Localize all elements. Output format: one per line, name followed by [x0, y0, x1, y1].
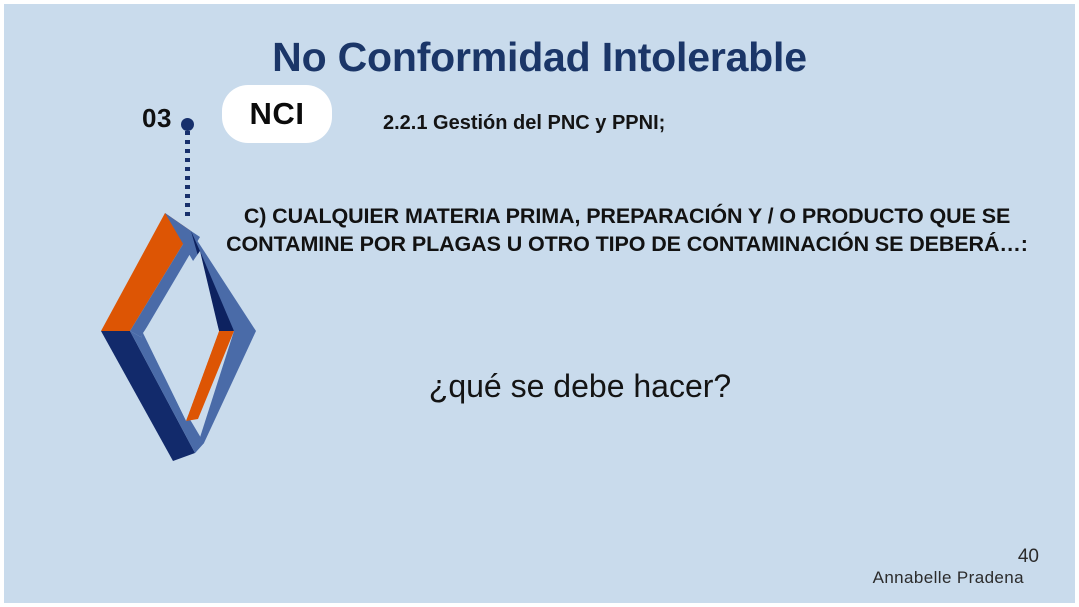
nci-badge: NCI — [222, 85, 332, 143]
question-text: ¿qué se debe hacer? — [210, 368, 950, 405]
subtitle: 2.2.1 Gestión del PNC y PPNI; — [383, 112, 665, 135]
impossible-rhombus-icon — [88, 203, 263, 468]
step-number: 03 — [142, 103, 172, 134]
author-name: Annabelle Pradena — [873, 568, 1024, 588]
connector-dot-icon — [181, 118, 194, 131]
page-number: 40 — [1018, 546, 1039, 568]
impossible-rhombus-svg — [88, 203, 263, 468]
presentation-slide: No Conformidad Intolerable 03 NCI 2.2.1 … — [0, 0, 1079, 607]
page-title: No Conformidad Intolerable — [0, 34, 1079, 81]
body-statement: C) CUALQUIER MATERIA PRIMA, PREPARACIÓN … — [196, 202, 1058, 259]
nci-badge-label: NCI — [250, 96, 305, 132]
